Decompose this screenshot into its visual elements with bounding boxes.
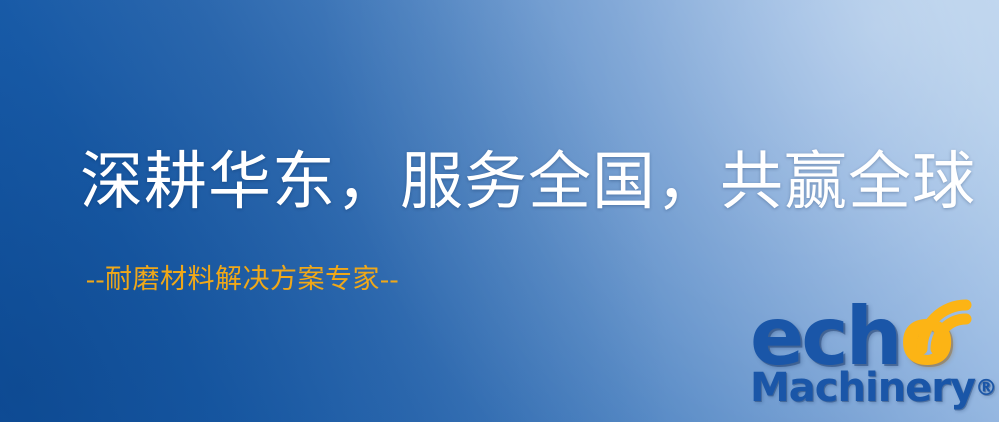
wifi-signal-arcs-icon xyxy=(910,293,986,355)
logo-tagline-text: Machinery xyxy=(750,365,975,411)
promo-banner: 深耕华东，服务全国，共赢全球 --耐磨材料解决方案专家-- echo Machi… xyxy=(0,0,999,422)
echo-machinery-logo: echo Machinery® xyxy=(744,297,994,419)
banner-subtitle: --耐磨材料解决方案专家-- xyxy=(86,266,399,293)
logo-tagline: Machinery® xyxy=(750,368,997,408)
banner-headline: 深耕华东，服务全国，共赢全球 xyxy=(80,151,976,214)
registered-trademark-icon: ® xyxy=(975,376,997,401)
